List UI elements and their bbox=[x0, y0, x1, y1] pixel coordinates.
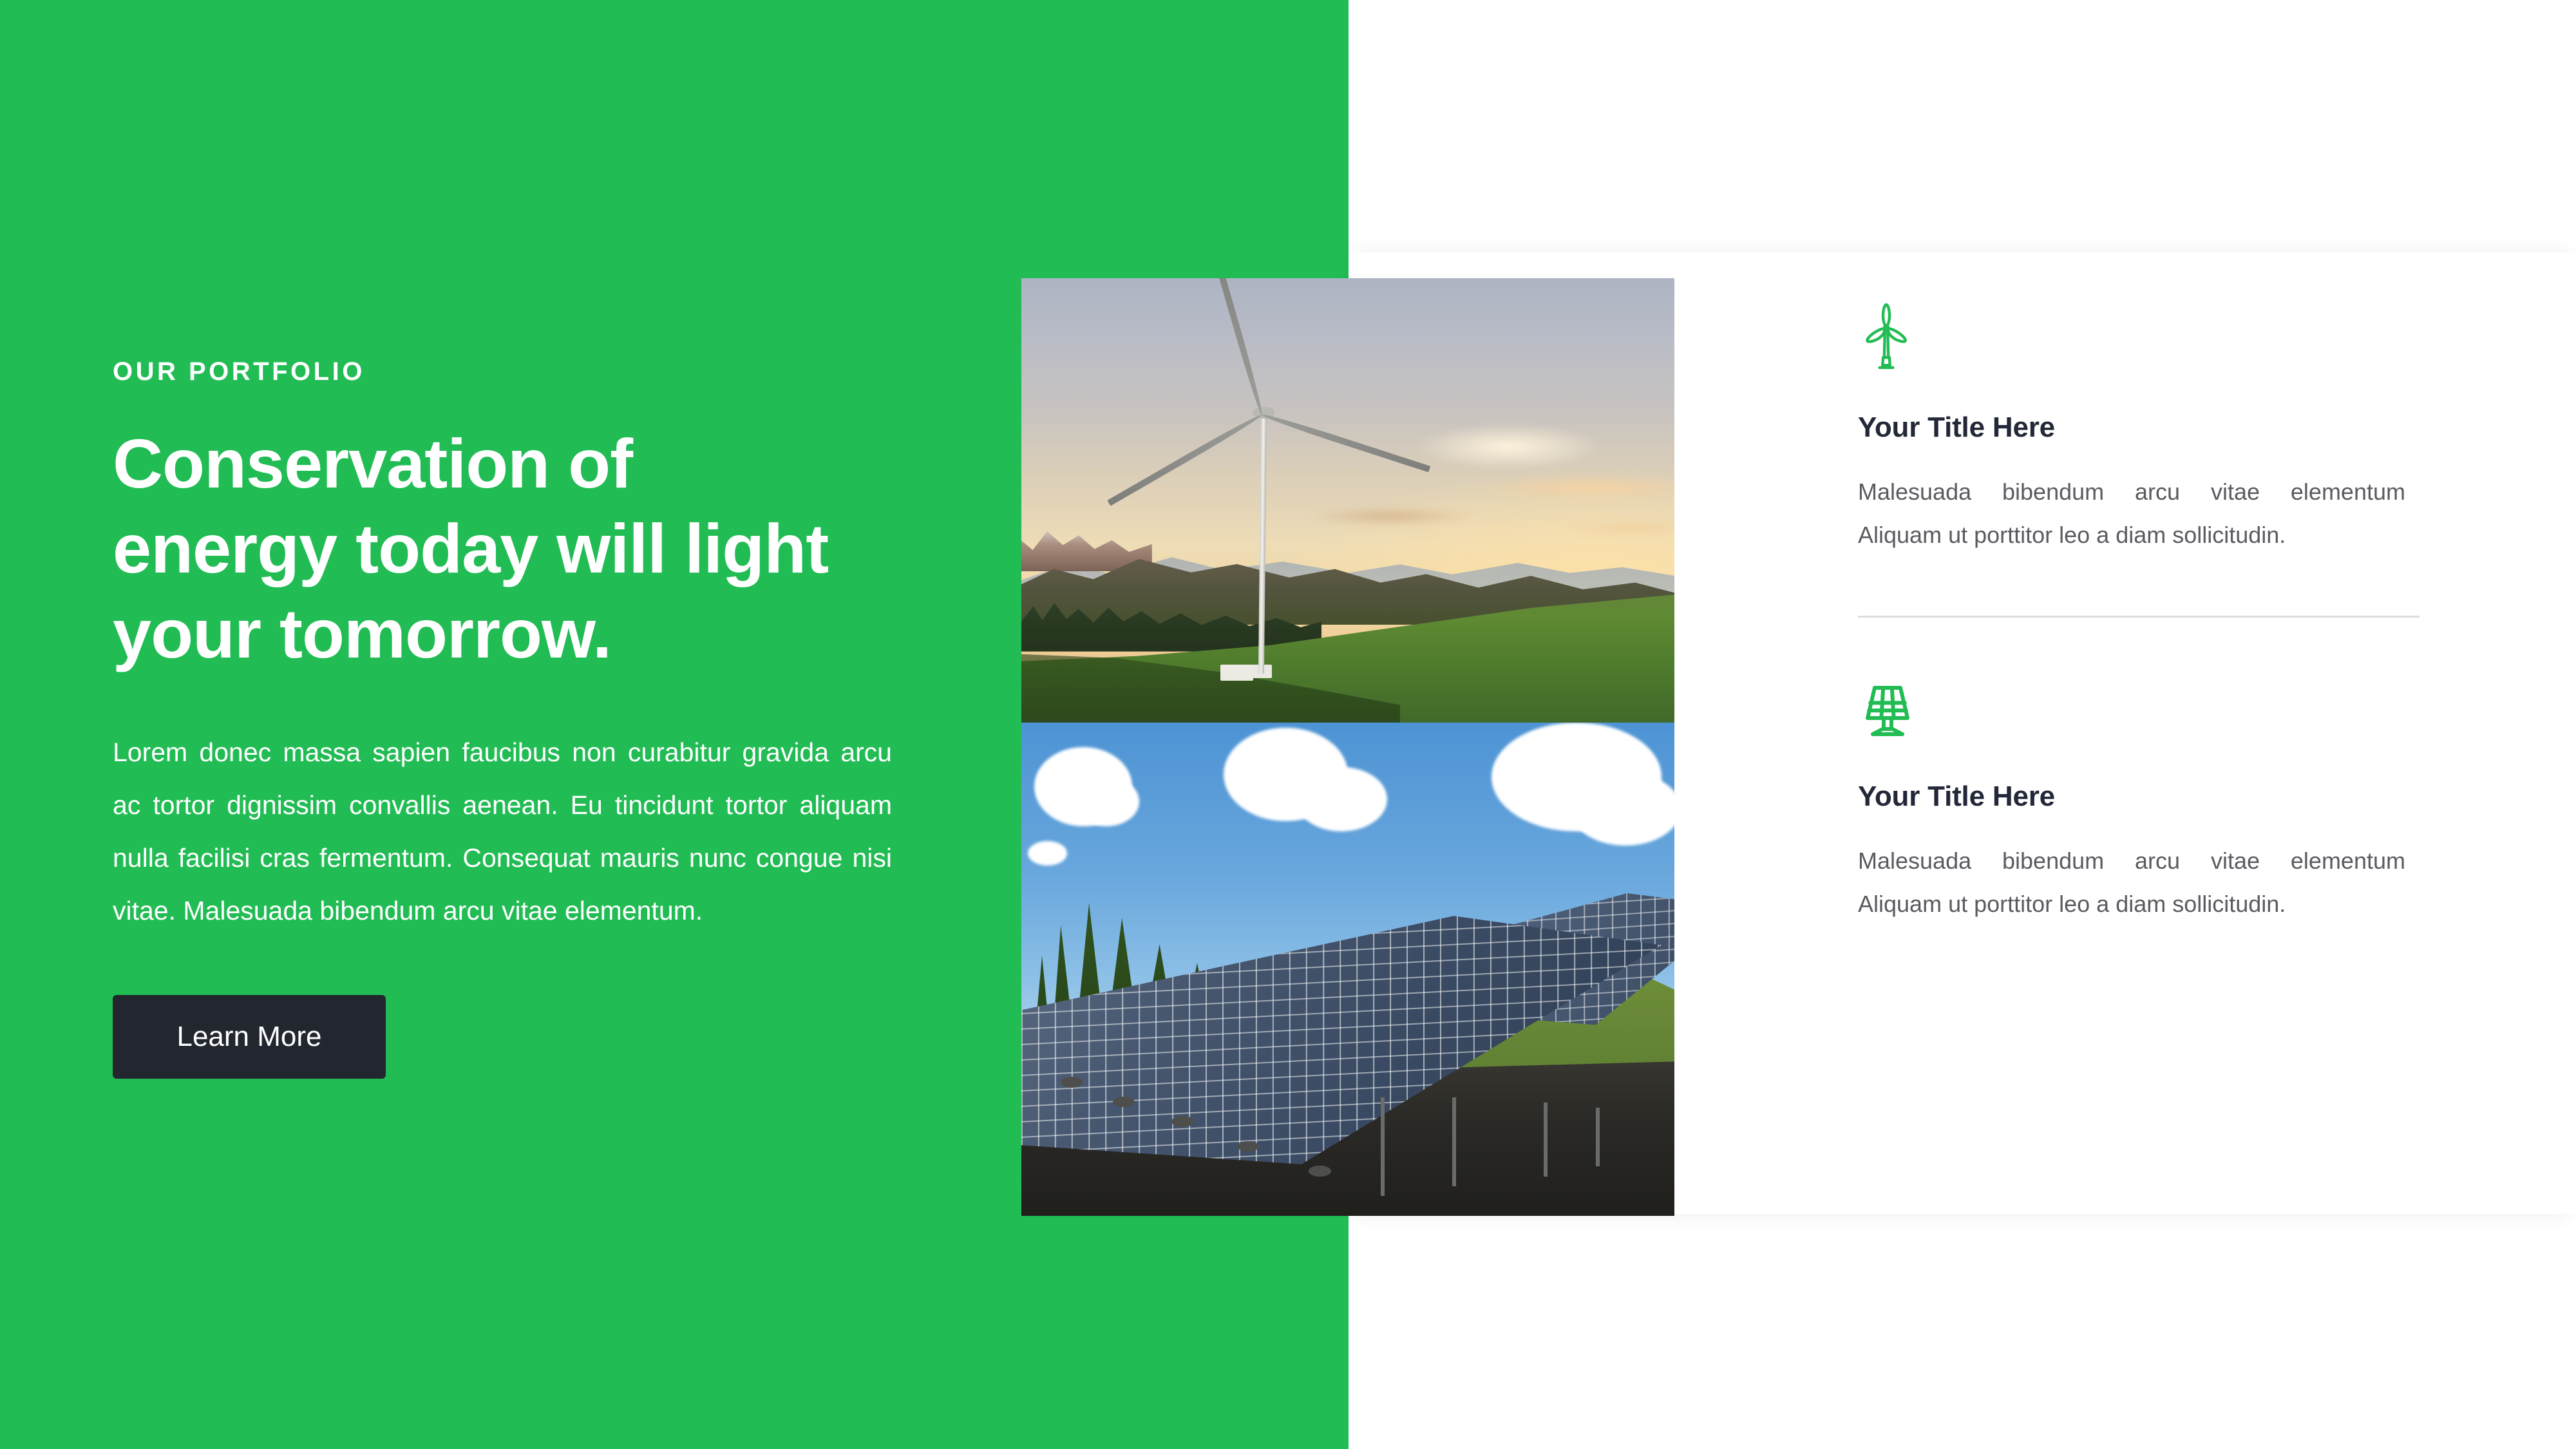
feature-body-line-2: Aliquam ut porttitor leo a diam sollicit… bbox=[1858, 883, 2405, 926]
solar-panel-icon bbox=[1858, 679, 2434, 742]
array-footing bbox=[1061, 1077, 1083, 1088]
feature-title: Your Title Here bbox=[1858, 412, 2434, 444]
feature-body-line-1: Malesuada bibendum arcu vitae elementum bbox=[1858, 840, 2405, 883]
feature-title: Your Title Here bbox=[1858, 781, 2434, 813]
array-support-leg bbox=[1452, 1097, 1456, 1186]
feature-body: Malesuada bibendum arcu vitae elementum … bbox=[1858, 471, 2405, 556]
cloud bbox=[1028, 841, 1067, 866]
wind-turbine-photo[interactable] bbox=[1021, 278, 1674, 723]
wind-turbine-icon bbox=[1858, 303, 2434, 373]
hero-content: OUR PORTFOLIO Conservation of energy tod… bbox=[113, 357, 892, 1079]
hero-paragraph: Lorem donec massa sapien faucibus non cu… bbox=[113, 726, 892, 937]
cloud bbox=[1074, 777, 1139, 826]
feature-body-line-2: Aliquam ut porttitor leo a diam sollicit… bbox=[1858, 514, 2405, 557]
feature-body: Malesuada bibendum arcu vitae elementum … bbox=[1858, 840, 2405, 925]
array-support-leg bbox=[1596, 1108, 1600, 1167]
feature-divider bbox=[1858, 616, 2420, 618]
feature-body-line-1: Malesuada bibendum arcu vitae elementum bbox=[1858, 471, 2405, 514]
array-footing bbox=[1171, 1116, 1193, 1127]
learn-more-button[interactable]: Learn More bbox=[113, 995, 386, 1079]
feature-list: Your Title Here Malesuada bibendum arcu … bbox=[1858, 303, 2441, 925]
cloud bbox=[1570, 772, 1674, 846]
eyebrow-label: OUR PORTFOLIO bbox=[113, 357, 892, 386]
page-title: Conservation of energy today will light … bbox=[113, 421, 873, 676]
cloud bbox=[1296, 767, 1387, 831]
turbine-service-box bbox=[1220, 665, 1253, 681]
array-support-leg bbox=[1544, 1103, 1548, 1177]
array-support-leg bbox=[1381, 1097, 1385, 1196]
solar-panel-photo[interactable] bbox=[1021, 723, 1674, 1216]
feature-item-wind: Your Title Here Malesuada bibendum arcu … bbox=[1858, 303, 2434, 556]
photo-gallery bbox=[1021, 278, 1674, 1216]
array-footing bbox=[1309, 1166, 1331, 1177]
feature-item-solar: Your Title Here Malesuada bibendum arcu … bbox=[1858, 679, 2434, 925]
